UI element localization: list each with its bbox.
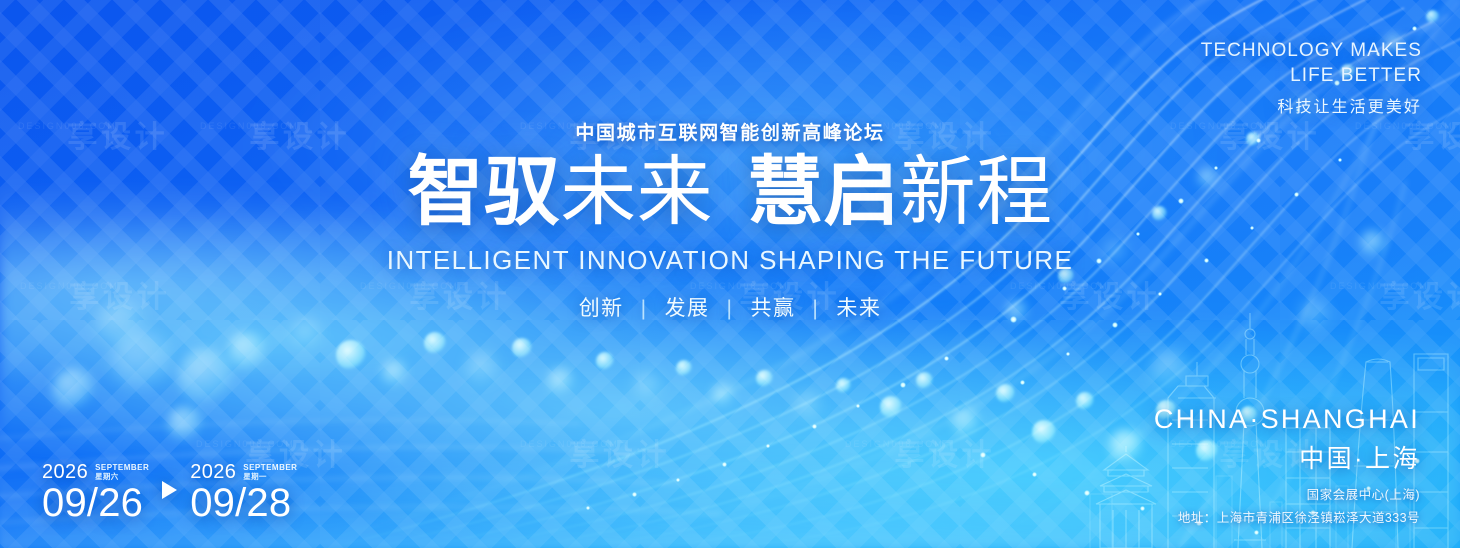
conference-banner: 享设计DESIGN008.COM 享设计DESIGN008.COM 享设计DES… <box>0 0 1460 548</box>
tagline-en-line2: LIFE BETTER <box>1201 63 1422 88</box>
start-weekday-cn: 星期六 <box>95 473 149 481</box>
keyword-separator: | <box>624 297 665 321</box>
tagline-cn: 科技让生活更美好 <box>1201 93 1422 117</box>
event-date-block: 2026 SEPTEMBER 星期六 09/26 2026 SEPTEMBER <box>42 461 297 524</box>
location-cn: 中国·上海 <box>1154 439 1420 475</box>
headline-group: 中国城市互联网智能创新高峰论坛 智驭未来慧启新程 INTELLIGENT INN… <box>0 118 1460 322</box>
end-date-group: 2026 SEPTEMBER 星期一 09/28 <box>190 461 297 524</box>
end-weekday-cn: 星期一 <box>243 473 297 481</box>
english-subtitle: INTELLIGENT INNOVATION SHAPING THE FUTUR… <box>0 245 1460 276</box>
title-part1-light: 未来 <box>560 150 713 235</box>
title-part1-bold: 智驭 <box>407 150 560 235</box>
forum-name: 中国城市互联网智能创新高峰论坛 <box>0 118 1460 145</box>
tagline-en-line1: TECHNOLOGY MAKES <box>1201 38 1422 63</box>
title-part2-bold: 慧启 <box>747 150 900 235</box>
keyword-separator: | <box>795 297 836 321</box>
end-date: 09/28 <box>190 482 297 524</box>
keyword-separator: | <box>710 297 751 321</box>
keyword-item: 创新 <box>579 297 624 320</box>
venue-name: 国家会展中心(上海) <box>1154 484 1420 503</box>
start-date-group: 2026 SEPTEMBER 星期六 09/26 <box>42 461 149 524</box>
start-date: 09/26 <box>42 482 149 524</box>
keyword-item: 未来 <box>836 297 881 320</box>
top-right-tagline: TECHNOLOGY MAKES LIFE BETTER 科技让生活更美好 <box>1201 38 1422 117</box>
venue-address: 地址：上海市青浦区徐泾镇崧泽大道333号 <box>1154 507 1420 526</box>
keyword-list: 创新|发展|共赢|未来 <box>0 292 1460 322</box>
title-part2-light: 新程 <box>900 150 1053 235</box>
page-title: 智驭未来慧启新程 <box>0 154 1460 232</box>
banner-content: TECHNOLOGY MAKES LIFE BETTER 科技让生活更美好 中国… <box>0 0 1460 548</box>
keyword-item: 发展 <box>665 297 710 320</box>
location-en: CHINA·SHANGHAI <box>1154 404 1420 435</box>
event-location-block: CHINA·SHANGHAI 中国·上海 国家会展中心(上海) 地址：上海市青浦… <box>1154 404 1420 526</box>
date-range-arrow-icon <box>162 481 177 499</box>
keyword-item: 共赢 <box>750 297 795 320</box>
